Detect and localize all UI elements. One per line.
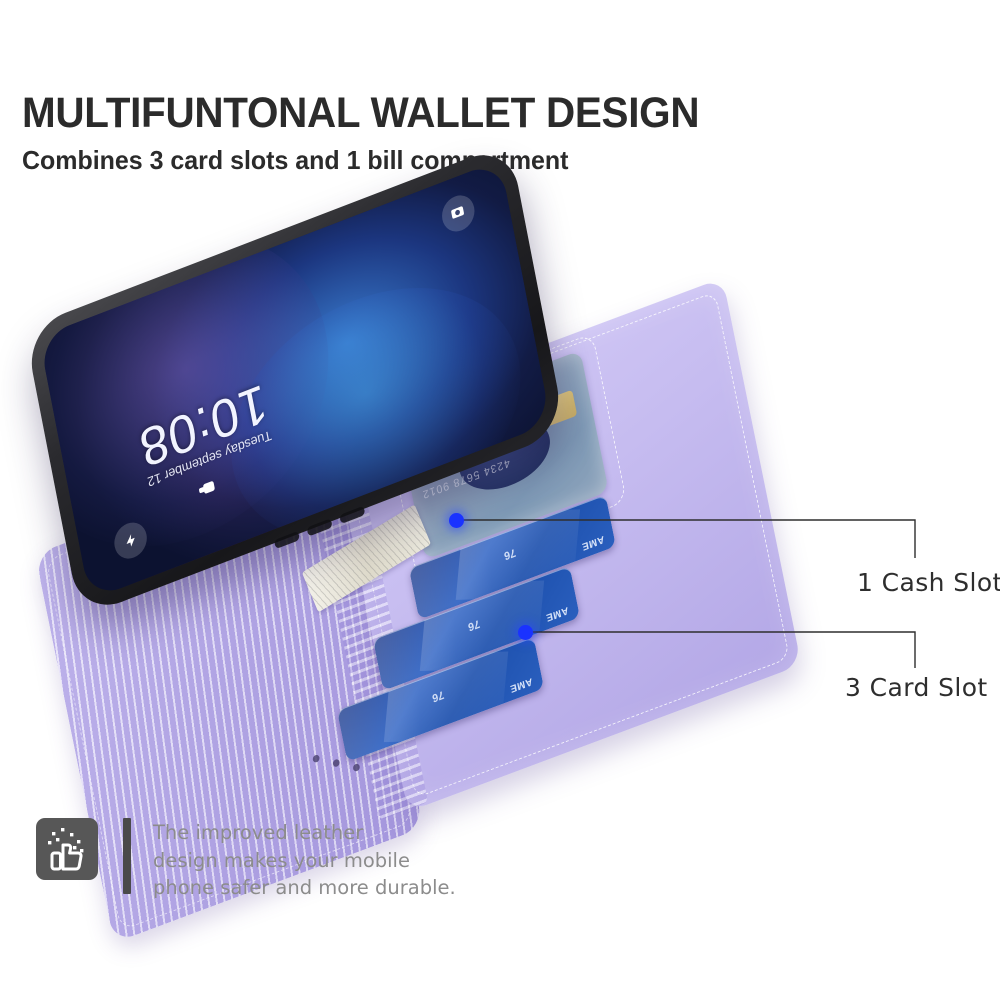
feature-description: The improved leather design makes your m… (153, 818, 456, 902)
slot-card-name: AME (545, 604, 569, 623)
page-title: MULTIFUNTONAL WALLET DESIGN (22, 92, 699, 135)
thumbs-up-icon (36, 818, 98, 880)
camera-icon[interactable] (440, 191, 478, 237)
slot-card-number: 76 (502, 546, 516, 562)
feature-block: The improved leather design makes your m… (36, 818, 456, 902)
product-image: 00/00 4234 5678 9012 76 AME 76 AME 76 AM… (0, 225, 1000, 805)
callout-label-card-slot: 3 Card Slot (845, 673, 988, 702)
feature-divider (123, 818, 131, 894)
slot-card-number: 76 (431, 688, 445, 704)
slot-card-name: AME (509, 675, 533, 694)
card-slot-marker (518, 625, 533, 640)
callout-label-cash-slot: 1 Cash Slot (857, 568, 1000, 597)
slot-card-name: AME (581, 533, 605, 552)
slot-card-number: 76 (467, 617, 481, 633)
cash-slot-marker (449, 513, 464, 528)
